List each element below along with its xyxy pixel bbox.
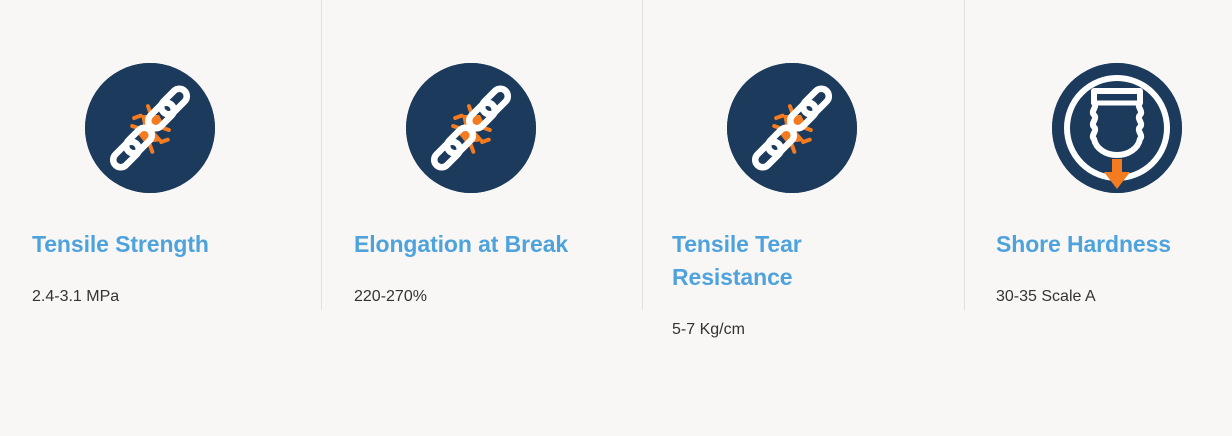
broken-chain-link-icon — [727, 63, 857, 193]
spec-card-tensile-tear-resistance: Tensile Tear Resistance 5-7 Kg/cm — [642, 0, 964, 436]
spec-title: Tensile Tear Resistance — [672, 193, 827, 294]
spec-title: Elongation at Break — [354, 193, 614, 261]
spec-value: 2.4-3.1 MPa — [32, 261, 321, 308]
spec-value: 220-270% — [354, 261, 642, 308]
spec-title: Shore Hardness — [996, 193, 1226, 261]
spec-value: 30-35 Scale A — [996, 261, 1232, 308]
spec-value: 5-7 Kg/cm — [672, 294, 964, 341]
specifications-strip: Tensile Strength 2.4-3.1 MPa — [0, 0, 1232, 436]
broken-chain-link-icon — [85, 63, 215, 193]
spec-card-tensile-strength: Tensile Strength 2.4-3.1 MPa — [0, 0, 321, 436]
hardness-indenter-icon — [1052, 63, 1182, 193]
spec-card-shore-hardness: Shore Hardness 30-35 Scale A — [964, 0, 1232, 436]
broken-chain-link-icon — [406, 63, 536, 193]
spec-card-elongation-at-break: Elongation at Break 220-270% — [321, 0, 642, 436]
spec-title: Tensile Strength — [32, 193, 217, 261]
